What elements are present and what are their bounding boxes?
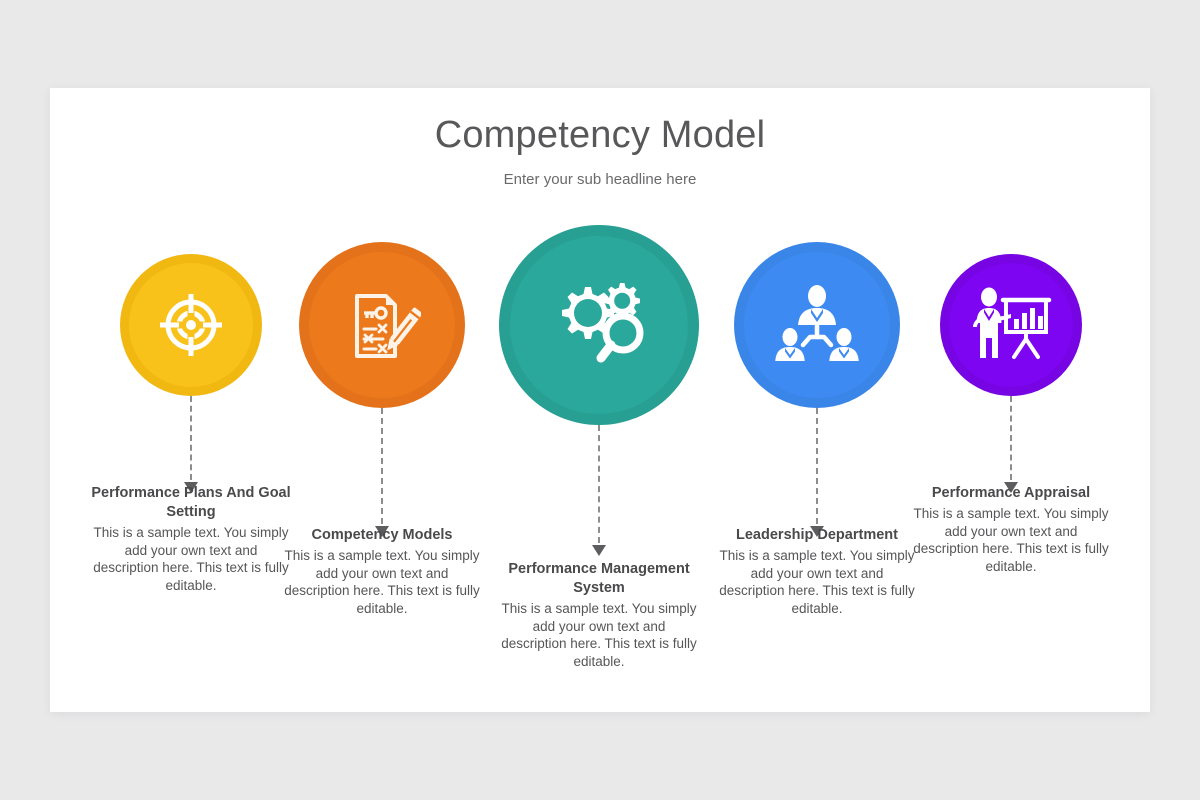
column-title: Performance Management System (499, 560, 699, 598)
icon-circle-competency-models[interactable] (299, 242, 465, 408)
circle-outer (299, 242, 465, 408)
column-title: Competency Models (282, 526, 482, 545)
icon-circle-performance-management-system[interactable] (499, 225, 699, 425)
column-body: This is a sample text. You simply add yo… (717, 547, 917, 617)
target-crosshair-icon (159, 293, 223, 357)
column-body: This is a sample text. You simply add yo… (282, 547, 482, 617)
slide-card: Competency Model Enter your sub headline… (50, 88, 1150, 712)
column-body: This is a sample text. You simply add yo… (499, 600, 699, 670)
page-title: Competency Model (50, 114, 1150, 157)
connector-leadership-department (810, 408, 824, 538)
column-body: This is a sample text. You simply add yo… (911, 505, 1111, 575)
presenter-chart-board-icon (970, 286, 1052, 364)
circle-inner (949, 263, 1073, 387)
circle-inner (129, 263, 253, 387)
circle-outer (499, 225, 699, 425)
connector-performance-management-system (592, 425, 606, 557)
page-subtitle: Enter your sub headline here (50, 171, 1150, 188)
circle-inner (510, 236, 688, 414)
connector-competency-models (375, 408, 389, 538)
document-checklist-pencil-icon (343, 286, 421, 364)
icon-circle-performance-plans[interactable] (120, 254, 262, 396)
column-title: Performance Appraisal (911, 484, 1111, 503)
circle-outer (940, 254, 1082, 396)
circle-outer (734, 242, 900, 408)
circle-inner (744, 252, 890, 398)
icon-circle-leadership-department[interactable] (734, 242, 900, 408)
circle-outer (120, 254, 262, 396)
icon-circle-performance-appraisal[interactable] (940, 254, 1082, 396)
column-title: Performance Plans And Goal Setting (91, 484, 291, 522)
connector-performance-appraisal (1004, 396, 1018, 494)
circle-inner (309, 252, 455, 398)
org-chart-people-icon (773, 285, 861, 365)
column-body: This is a sample text. You simply add yo… (91, 524, 291, 594)
connector-performance-plans (184, 396, 198, 494)
column-title: Leadership Department (717, 526, 917, 545)
gears-magnifier-icon (547, 275, 651, 375)
